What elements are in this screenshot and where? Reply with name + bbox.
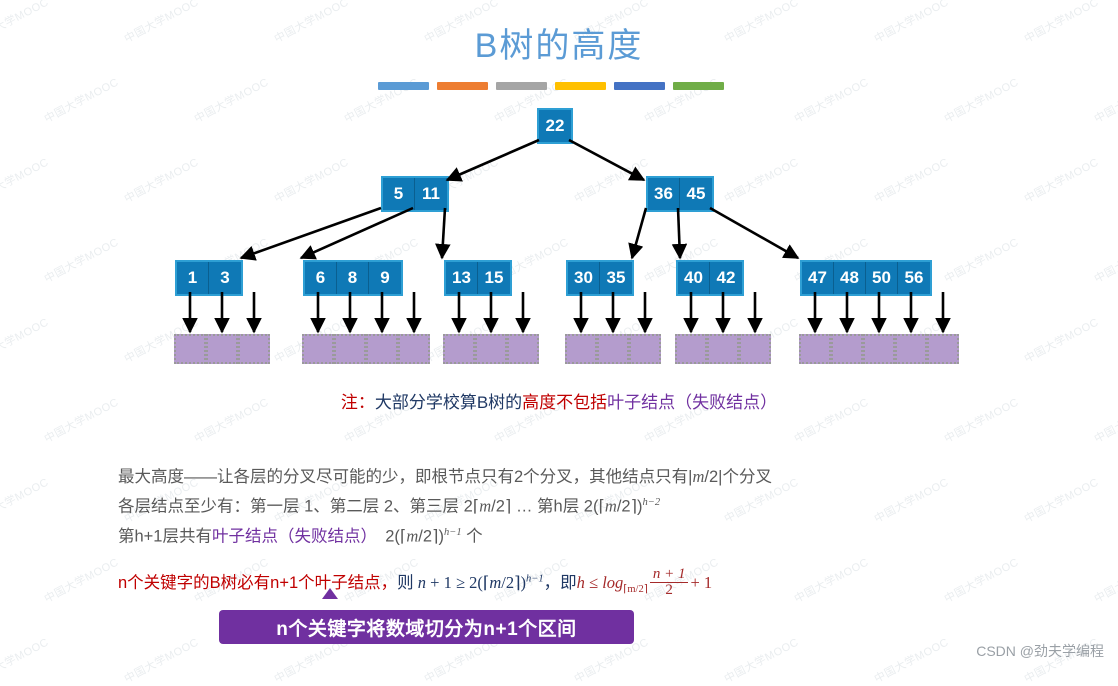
conclusion-line: n个关键字的B树必有n+1个叶子结点，则 n + 1 ≥ 2(⌈m/2⌉)h−1… — [118, 568, 712, 599]
note-segment-red: 高度不包括 — [522, 393, 607, 412]
formula-tail: + 1 — [690, 573, 712, 592]
up-triangle-icon — [322, 588, 338, 599]
conclusion-blue-m: m — [489, 573, 501, 592]
conclusion-blue-exponent: h−1 — [526, 573, 544, 584]
explanation-line-3: 第h+1层共有叶子结点（失败结点） 2(⌈m/2⌉)h−1 个 — [118, 520, 772, 550]
highlight-banner: n个关键字将数域切分为n+1个区间 — [219, 610, 634, 644]
line2-text-b: /2⌉ … 第h层 2(⌈ — [491, 498, 605, 516]
formula-log-base: ⌈m/2⌉ — [623, 584, 648, 595]
line2-text-a: 各层结点至少有：第一层 1、第二层 2、第三层 2⌈ — [118, 498, 479, 516]
line2-var-m2: m — [605, 497, 617, 516]
formula-h: h — [577, 573, 585, 592]
formula-le: ≤ — [585, 573, 602, 592]
conclusion-blue-b: + 1 ≥ 2(⌈ — [426, 573, 489, 592]
conclusion-blue-a: 则 — [397, 573, 418, 592]
tree-edge — [569, 140, 644, 180]
formula-log: log — [602, 573, 623, 592]
note-line: 注：大部分学校算B树的高度不包括叶子结点（失败结点） — [0, 388, 1118, 413]
explanation-line-2: 各层结点至少有：第一层 1、第二层 2、第三层 2⌈m/2⌉ … 第h层 2(⌈… — [118, 490, 772, 520]
conclusion-red-part: n个关键字的B树必有n+1个叶子结点， — [118, 574, 397, 592]
conclusion-blue-c: /2⌉) — [501, 573, 526, 592]
tree-edge — [710, 208, 798, 258]
line3-text-a: 第h+1层共有 — [118, 527, 212, 545]
csdn-watermark: CSDN @劲夫学编程 — [976, 641, 1104, 661]
line2-var-m: m — [479, 497, 491, 516]
tree-edge — [442, 208, 445, 258]
note-segment-purple: 叶子结点（失败结点） — [607, 393, 777, 412]
line2-exponent: h−2 — [643, 497, 661, 508]
formula-fraction: n + 12 — [650, 567, 689, 598]
line3-text-c: /2⌉) — [418, 527, 444, 545]
note-prefix: 注： — [341, 393, 375, 412]
conclusion-blue-n: n — [418, 573, 426, 592]
line2-text-c: /2⌉) — [617, 498, 643, 516]
line3-exponent: h−1 — [444, 527, 462, 538]
fraction-numerator: n + 1 — [650, 567, 689, 582]
line1-text-b: /2|个分叉 — [704, 468, 772, 486]
line3-text-b: 2(⌈ — [369, 527, 407, 545]
tree-edge — [632, 208, 646, 258]
line1-var-m: m — [692, 467, 704, 486]
note-segment-blue: 大部分学校算B树的 — [375, 393, 522, 412]
line1-text-a: 最大高度——让各层的分叉尽可能的少，即根节点只有2个分叉，其他结点只有| — [118, 468, 692, 486]
tree-edge — [678, 208, 680, 258]
explanation-text: 最大高度——让各层的分叉尽可能的少，即根节点只有2个分叉，其他结点只有|m/2|… — [118, 464, 772, 549]
fraction-denominator: 2 — [650, 582, 689, 598]
explanation-line-1: 最大高度——让各层的分叉尽可能的少，即根节点只有2个分叉，其他结点只有|m/2|… — [118, 464, 772, 490]
line3-var-m: m — [406, 526, 418, 545]
line3-purple-term: 叶子结点（失败结点） — [212, 527, 369, 545]
tree-edge — [447, 140, 539, 180]
slide-root: 中国大学MOOC中国大学MOOC中国大学MOOC中国大学MOOC中国大学MOOC… — [0, 0, 1118, 673]
line3-text-d: 个 — [462, 527, 483, 545]
conclusion-blue-d: ，即 — [544, 573, 577, 592]
